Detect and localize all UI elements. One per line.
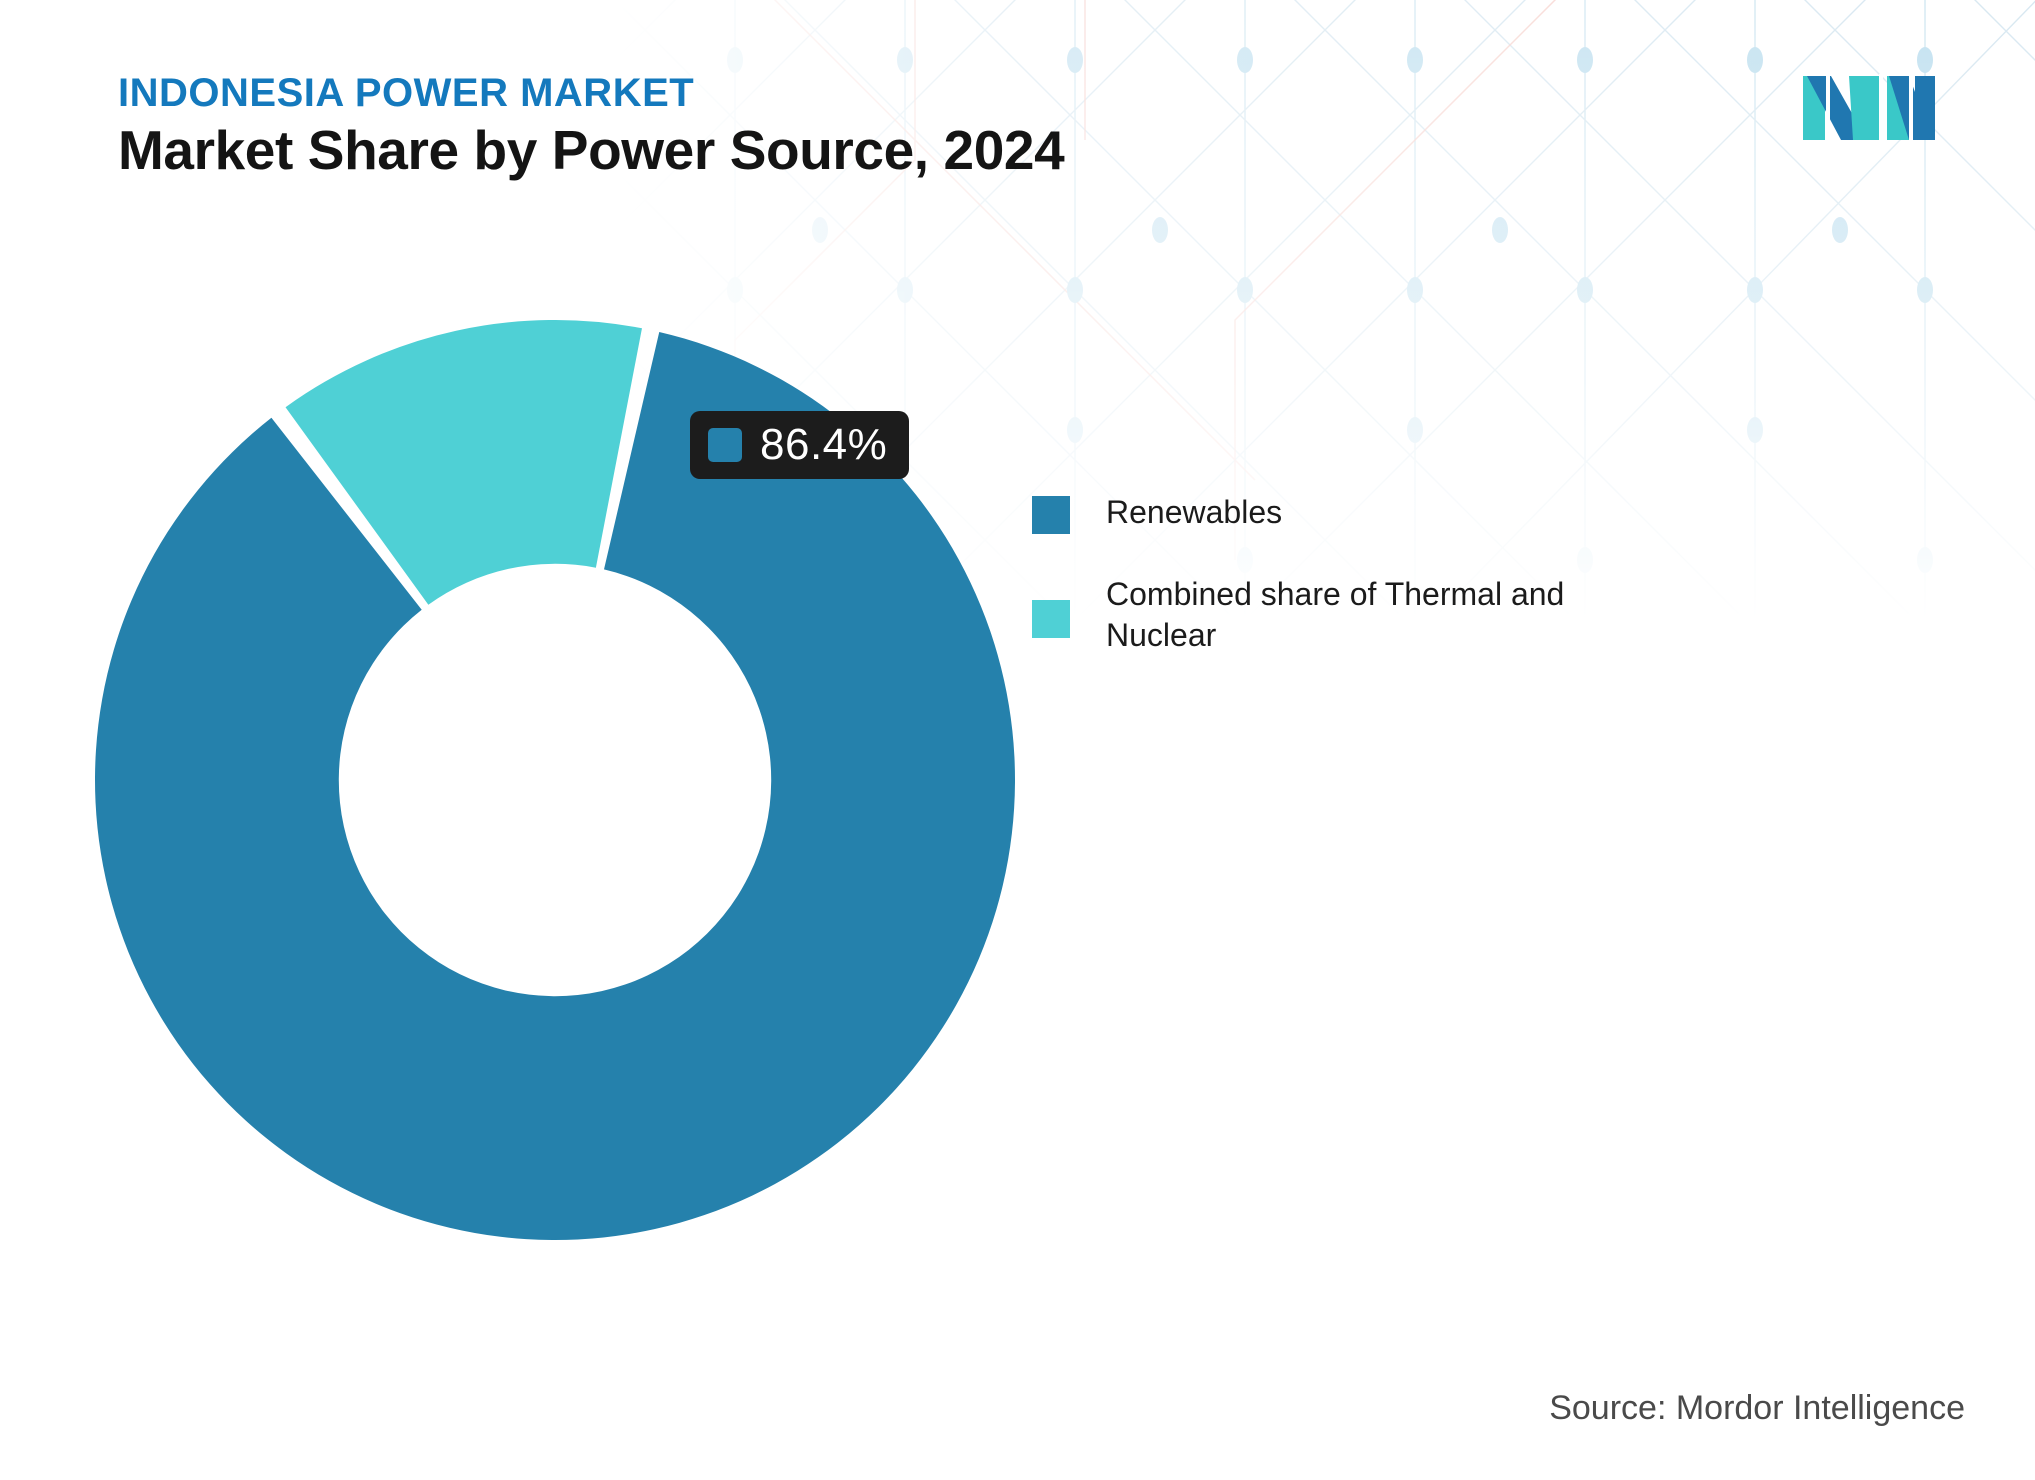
page-title: Market Share by Power Source, 2024 <box>118 120 1064 182</box>
legend-swatch-renewables <box>1032 496 1070 534</box>
legend-label-renewables: Renewables <box>1106 492 1282 533</box>
mordor-intelligence-logo-icon <box>1803 72 1947 144</box>
legend-item-thermal-nuclear[interactable]: Combined share of Thermal and Nuclear <box>1032 574 1672 656</box>
data-label-callout: 86.4% <box>690 411 909 479</box>
chart-legend: Renewables Combined share of Thermal and… <box>1032 492 1672 696</box>
header-block: INDONESIA POWER MARKET Market Share by P… <box>118 72 1064 182</box>
eyebrow-title: INDONESIA POWER MARKET <box>118 72 1064 114</box>
legend-item-renewables[interactable]: Renewables <box>1032 492 1672 534</box>
legend-swatch-thermal-nuclear <box>1032 600 1070 638</box>
source-note: Source: Mordor Intelligence <box>1549 1389 1965 1428</box>
infographic-page: INDONESIA POWER MARKET Market Share by P… <box>0 0 2035 1480</box>
callout-value-text: 86.4% <box>760 423 887 467</box>
legend-label-thermal-nuclear: Combined share of Thermal and Nuclear <box>1106 574 1672 656</box>
callout-color-swatch <box>708 428 742 462</box>
